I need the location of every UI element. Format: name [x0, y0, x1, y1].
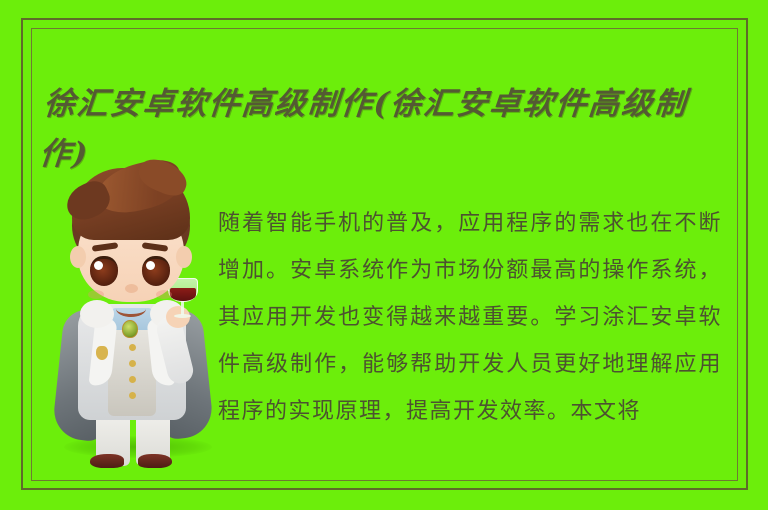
eye-glint-right: [146, 261, 155, 270]
brooch-icon: [122, 320, 138, 338]
ear-right: [176, 246, 192, 268]
wine-liquid: [170, 288, 196, 301]
vest-button: [129, 360, 136, 367]
mouth: [116, 301, 146, 317]
cheek-right: [156, 290, 172, 299]
ear-left: [70, 246, 86, 268]
vest-button: [129, 344, 136, 351]
shoe-left: [90, 454, 124, 468]
article-body-text: 随着智能手机的普及，应用程序的需求也在不断增加。安卓系统作为市场份额最高的操作系…: [218, 200, 722, 435]
vest-button: [129, 376, 136, 383]
wine-glass-stem: [181, 301, 184, 315]
eye-glint-left: [94, 261, 103, 270]
medal-ornament: [96, 346, 108, 360]
shoe-right: [138, 454, 172, 468]
fur-collar-left: [80, 300, 114, 328]
article-card: 徐汇安卓软件高级制作(徐汇安卓软件高级制作): [0, 0, 768, 510]
illustration-chibi-gentleman: [52, 168, 227, 463]
vest-button: [129, 392, 136, 399]
eye-right: [142, 256, 170, 286]
eye-left: [90, 256, 118, 286]
nose: [125, 284, 138, 293]
cheek-left: [88, 290, 104, 299]
